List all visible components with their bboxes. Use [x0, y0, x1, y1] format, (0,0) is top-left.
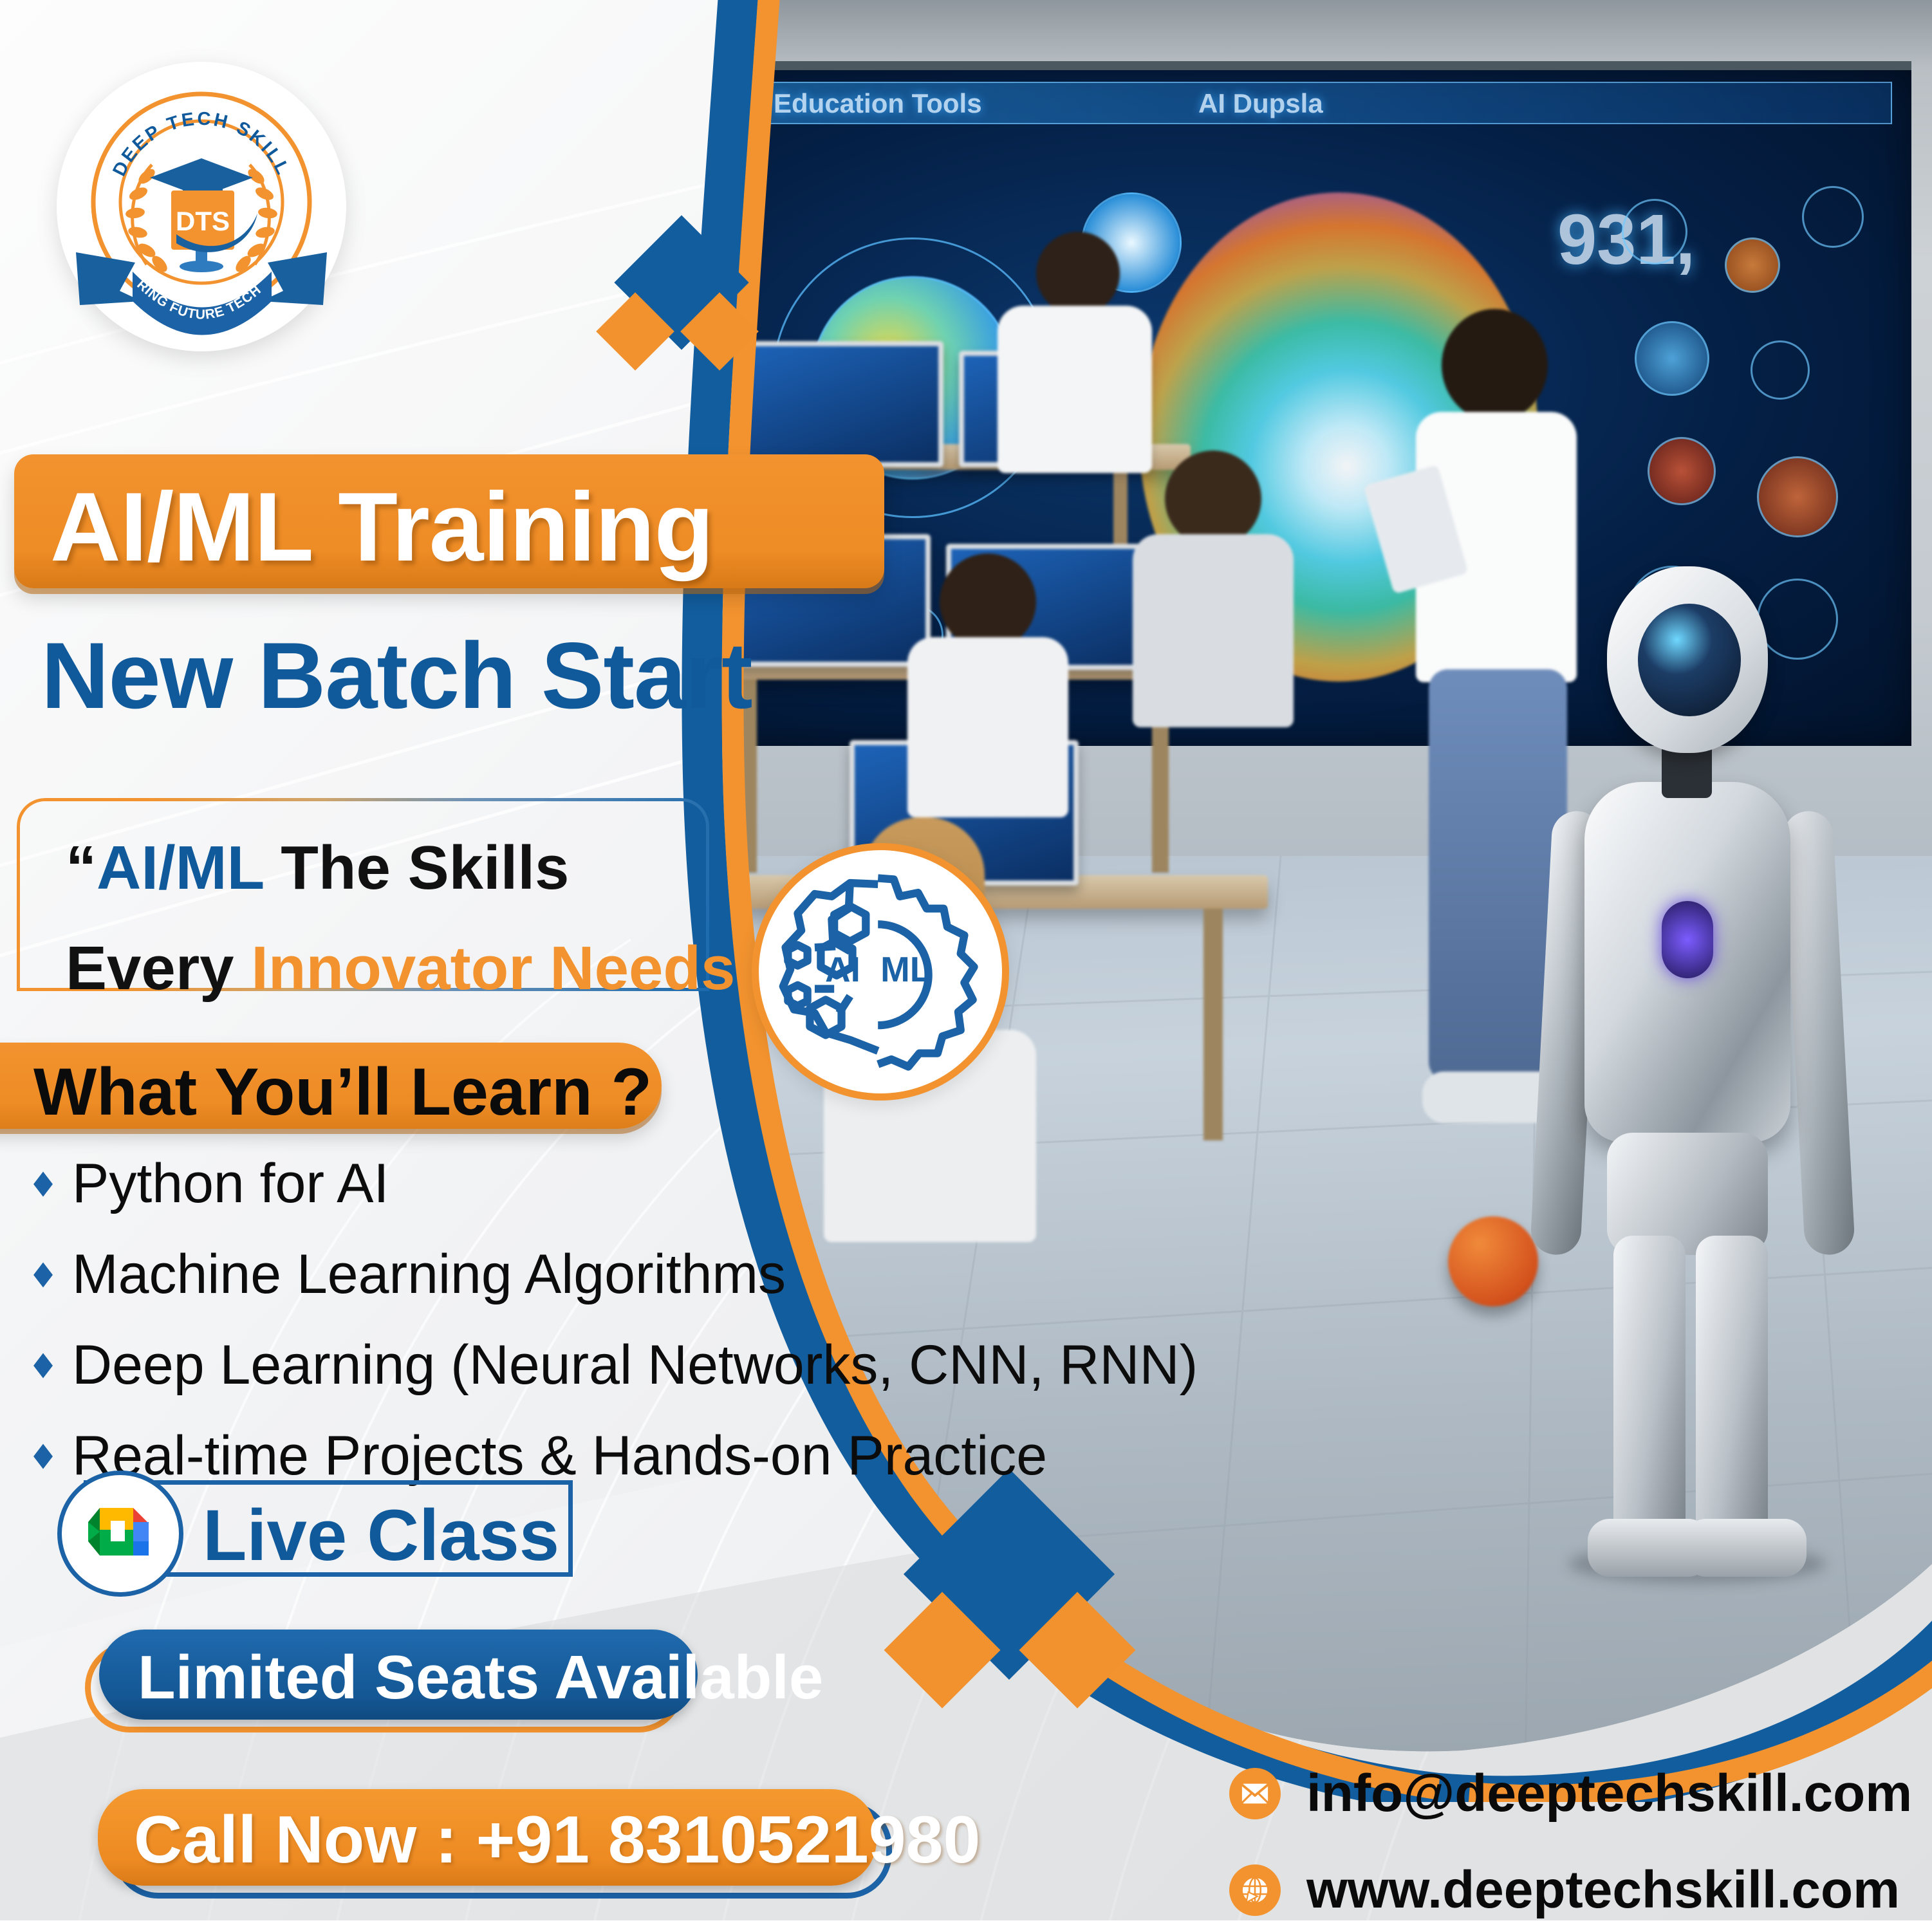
- humanoid-robot: [1523, 566, 1858, 1570]
- globe-icon: [1229, 1864, 1281, 1916]
- diamond-bullet-icon: [28, 1351, 58, 1380]
- learn-heading-badge: What You’ll Learn ?: [0, 1043, 662, 1129]
- logo-monogram: DTS: [176, 206, 230, 236]
- contact-website-text: www.deeptechskill.com: [1306, 1860, 1900, 1920]
- diamond-bullet-icon: [28, 1442, 58, 1471]
- google-meet-icon: [83, 1499, 160, 1563]
- poster-root: Education Tools AI Dupsla 931,: [0, 0, 1932, 1932]
- call-now-badge[interactable]: Call Now : +91 8310521980: [98, 1789, 877, 1886]
- seats-label: Limited Seats Available: [138, 1642, 823, 1713]
- diamond-bullet-icon: [28, 1260, 58, 1290]
- envelope-icon: [1229, 1768, 1281, 1819]
- contact-website-row[interactable]: www.deeptechskill.com: [1229, 1860, 1905, 1920]
- call-now-label: Call Now : +91 8310521980: [134, 1802, 980, 1879]
- quote-line2-lead: Every: [66, 934, 251, 1003]
- list-item: Real-time Projects & Hands-on Practice: [28, 1424, 1187, 1488]
- headline-title: AI/ML Training: [50, 471, 713, 584]
- quote-line-2: Every Innovator Needs.": [66, 933, 674, 1004]
- list-item: Deep Learning (Neural Networks, CNN, RNN…: [28, 1333, 1187, 1397]
- live-class-badge[interactable]: Live Class: [84, 1480, 573, 1577]
- quote-highlight-aiml: AI/ML: [97, 833, 264, 902]
- contact-email-text: info@deeptechskill.com: [1306, 1763, 1912, 1824]
- diamond-bullet-icon: [28, 1169, 58, 1199]
- learn-list: Python for AI Machine Learning Algorithm…: [28, 1152, 1187, 1515]
- seats-badge: Limited Seats Available: [99, 1630, 698, 1720]
- screen-label-center: AI Dupsla: [1198, 88, 1323, 119]
- company-logo: DEEP TECH SKILL: [57, 62, 346, 351]
- quote-highlight-innovator: Innovator Needs.: [251, 934, 752, 1003]
- live-class-label: Live Class: [203, 1494, 559, 1577]
- list-item: Machine Learning Algorithms: [28, 1243, 1187, 1306]
- contact-email-row[interactable]: info@deeptechskill.com: [1229, 1763, 1905, 1824]
- learn-item-text: Machine Learning Algorithms: [72, 1243, 786, 1306]
- learn-item-text: Deep Learning (Neural Networks, CNN, RNN…: [72, 1333, 1198, 1397]
- quote-line1-rest: The Skills: [264, 833, 570, 902]
- bottom-strip: [0, 1920, 1932, 1932]
- aiml-badge-icon: AI ML: [752, 843, 1009, 1101]
- headline-subtitle: New Batch Start: [41, 622, 752, 730]
- list-item: Python for AI: [28, 1152, 1187, 1216]
- quote-open-mark: “: [66, 833, 97, 902]
- contact-block: info@deeptechskill.com www.deeptechskill…: [1229, 1763, 1905, 1932]
- aiml-label-ai: AI: [825, 949, 860, 989]
- aiml-label-ml: ML: [880, 949, 931, 989]
- screen-label-left: Education Tools: [774, 88, 982, 119]
- headline-badge: AI/ML Training: [14, 454, 884, 588]
- quote-box: “AI/ML The Skills Every Innovator Needs.…: [17, 798, 709, 991]
- learn-item-text: Python for AI: [72, 1152, 389, 1216]
- learn-item-text: Real-time Projects & Hands-on Practice: [72, 1424, 1047, 1488]
- quote-line-1: “AI/ML The Skills: [66, 833, 674, 904]
- learn-heading-text: What You’ll Learn ?: [33, 1054, 652, 1131]
